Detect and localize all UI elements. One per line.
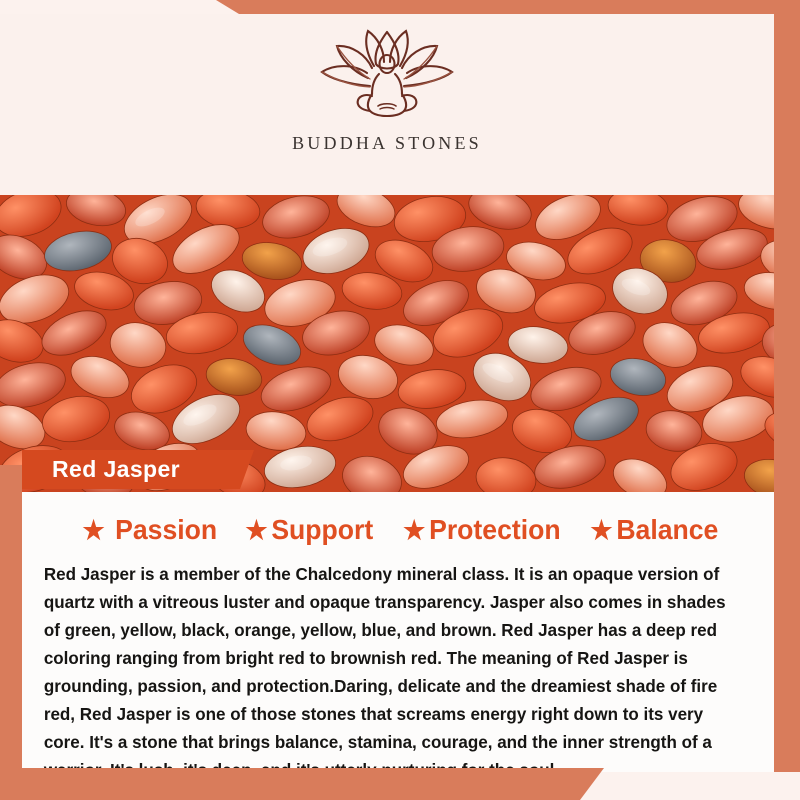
- content-card: ★ Passion ★ Support ★ Protection ★ Balan…: [22, 492, 778, 772]
- star-icon: ★: [403, 517, 425, 543]
- brand-logo: BUDDHA STONES: [292, 26, 482, 154]
- star-icon: ★: [246, 517, 268, 543]
- feature-item-support: ★ Support: [246, 514, 374, 546]
- feature-item-protection: ★ Protection: [403, 514, 560, 546]
- feature-label: Protection: [429, 514, 561, 546]
- star-icon: ★: [82, 517, 104, 543]
- feature-label: Balance: [616, 514, 718, 546]
- stone-description: Red Jasper is a member of the Chalcedony…: [32, 560, 757, 784]
- infographic-page: BUDDHA STONES Stone Features & Benefits: [0, 0, 800, 800]
- top-accent-band: [0, 0, 800, 14]
- feature-label: Support: [272, 514, 374, 546]
- feature-item-balance: ★ Balance: [590, 514, 718, 546]
- feature-list: ★ Passion ★ Support ★ Protection ★ Balan…: [32, 514, 768, 546]
- header: BUDDHA STONES: [0, 14, 774, 195]
- right-accent-strip: [774, 0, 800, 772]
- stone-photo: [0, 195, 800, 492]
- stone-name: Red Jasper: [52, 456, 180, 483]
- left-accent-strip: [0, 465, 22, 785]
- lotus-meditation-icon: [312, 26, 462, 131]
- feature-item-passion: ★ Passion: [82, 514, 217, 546]
- stone-name-banner: Red Jasper: [22, 450, 254, 489]
- feature-label: Passion: [115, 514, 217, 546]
- star-icon: ★: [590, 517, 612, 543]
- brand-name: BUDDHA STONES: [292, 133, 482, 154]
